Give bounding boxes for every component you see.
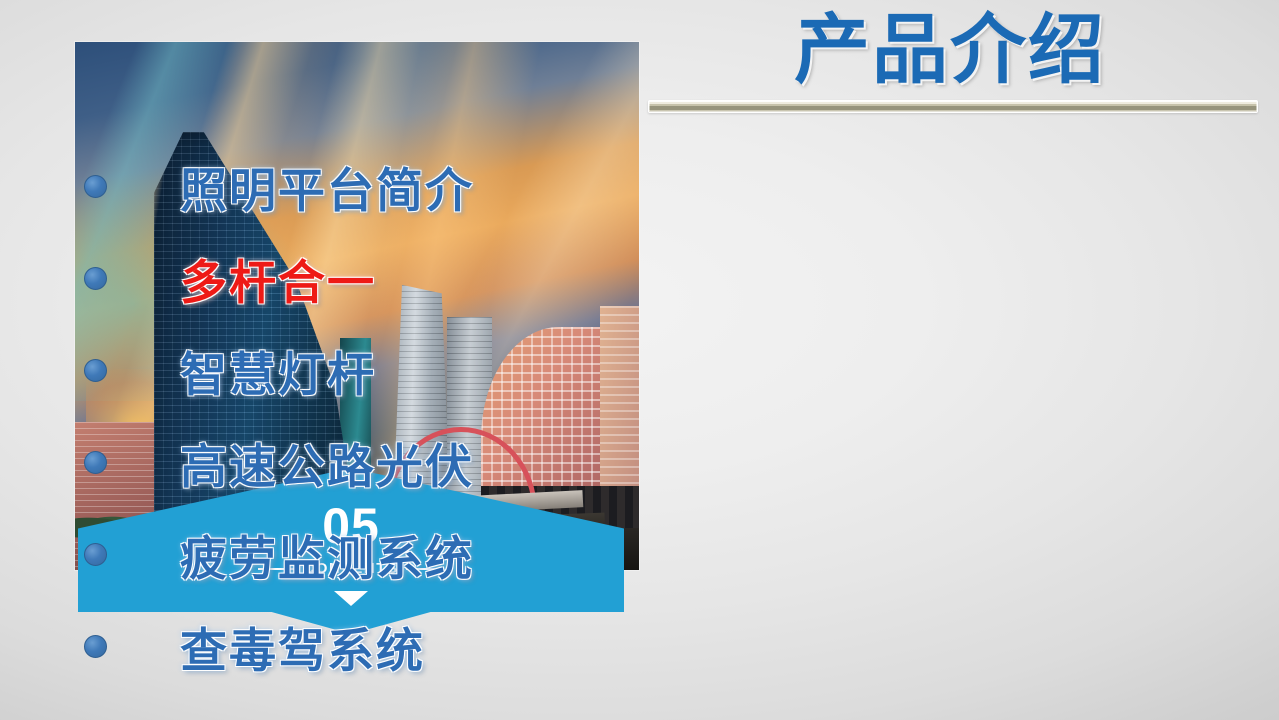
- list-item-label: 高速公路光伏: [180, 428, 474, 497]
- bullet-dot-icon: [84, 635, 107, 658]
- list-item[interactable]: 查毒驾系统: [0, 600, 639, 692]
- list-item-label: 疲劳监测系统: [180, 520, 474, 589]
- list-item-label: 查毒驾系统: [180, 612, 425, 681]
- list-item[interactable]: 智慧灯杆: [0, 324, 639, 416]
- title-divider: [648, 100, 1258, 113]
- list-item[interactable]: 高速公路光伏: [0, 416, 639, 508]
- list-item-label: 智慧灯杆: [180, 336, 376, 405]
- list-item[interactable]: 疲劳监测系统: [0, 508, 639, 600]
- presentation-slide: 05 CONTENTS 产品介绍 照明平台简介 多杆合一 智慧灯杆 高速公路光伏: [0, 0, 1279, 720]
- bullet-dot-icon: [84, 267, 107, 290]
- list-item-label: 照明平台简介: [180, 152, 474, 221]
- bullet-dot-icon: [84, 175, 107, 198]
- bullet-dot-icon: [84, 543, 107, 566]
- list-item[interactable]: 照明平台简介: [0, 140, 639, 232]
- list-item[interactable]: 多杆合一: [0, 232, 639, 324]
- list-item-label-highlighted: 多杆合一: [180, 244, 376, 313]
- page-title: 产品介绍: [640, 8, 1260, 93]
- bullet-list: 照明平台简介 多杆合一 智慧灯杆 高速公路光伏 疲劳监测系统 查毒驾系统: [0, 140, 639, 692]
- bullet-dot-icon: [84, 359, 107, 382]
- bullet-dot-icon: [84, 451, 107, 474]
